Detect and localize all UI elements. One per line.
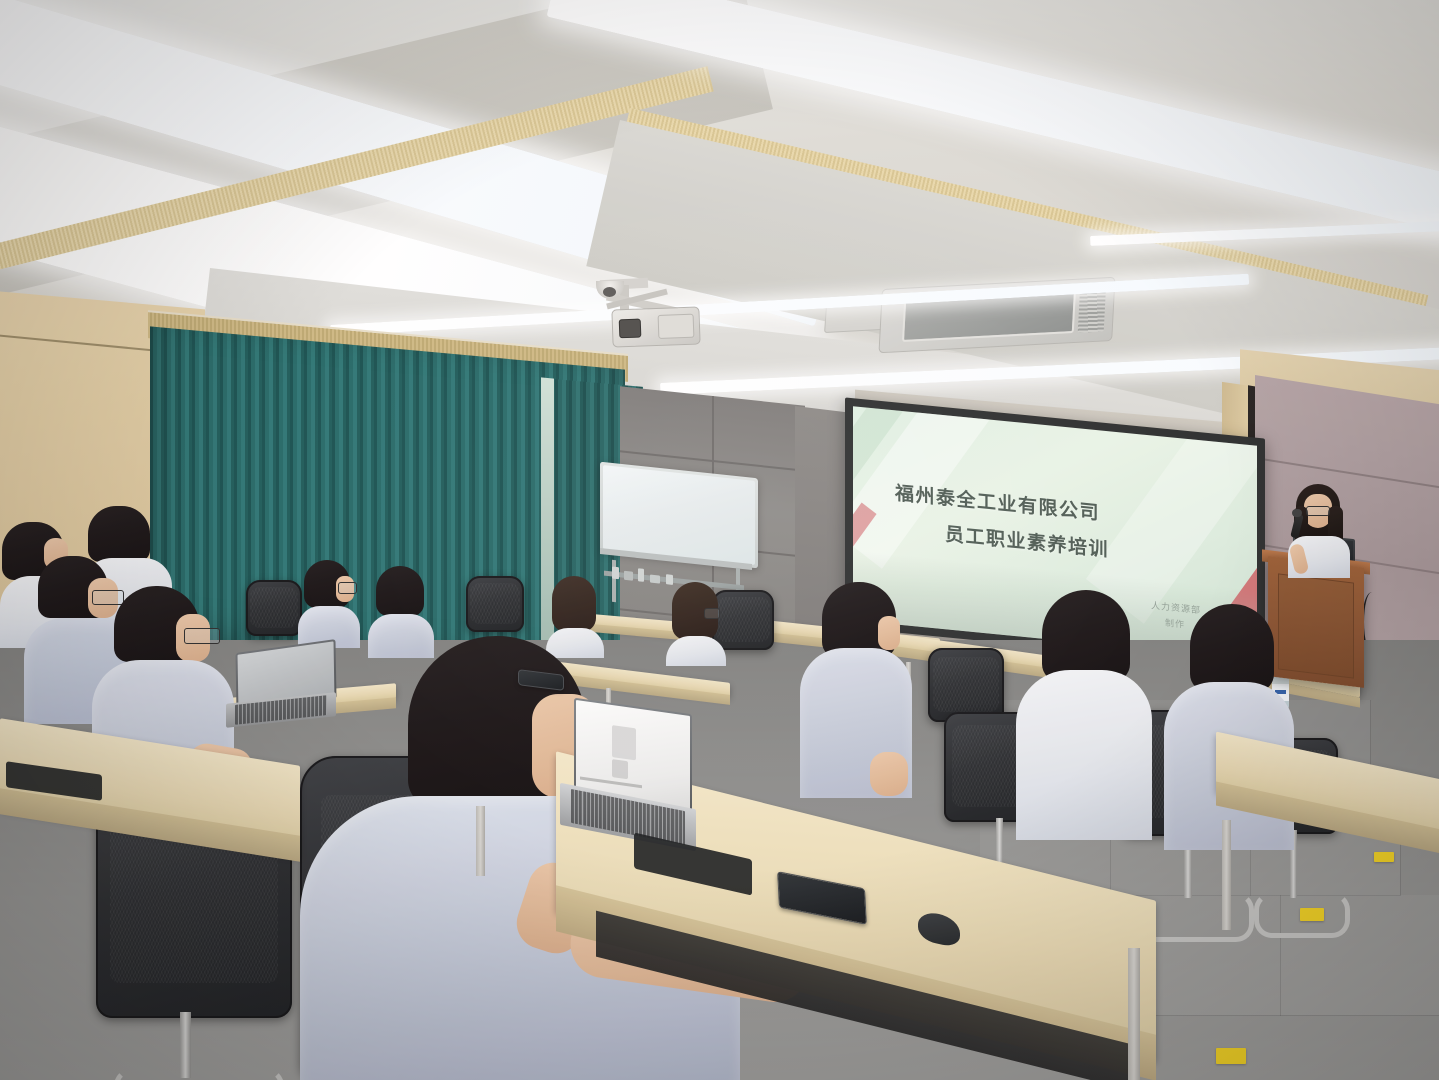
floor-marker-3 (1374, 852, 1394, 862)
attendee-person (800, 582, 912, 792)
microphone-head-icon (1292, 509, 1302, 517)
slide-title-line2: 员工职业素养培训 (945, 519, 1109, 562)
attendee-person (298, 560, 360, 638)
projector-lens-icon (619, 319, 642, 339)
desk-leg (476, 806, 485, 876)
attendee-person (1016, 590, 1152, 830)
glasses-icon (184, 628, 220, 644)
chair[interactable] (246, 580, 302, 636)
camera-lens-icon (603, 287, 616, 297)
slide-title-line1: 福州泰全工业有限公司 (895, 478, 1100, 525)
ac-louver (1078, 287, 1106, 333)
attendee-person (368, 566, 434, 646)
training-room-photo: 福州泰全工业有限公司 员工职业素养培训 人力资源部 制作 (0, 0, 1439, 1080)
desk-leg (1222, 820, 1231, 930)
floor-marker-2 (1216, 1048, 1246, 1064)
presenter-glasses-icon (1306, 506, 1330, 516)
desk-leg (1128, 948, 1140, 1080)
projector-icon (611, 306, 700, 347)
laptop[interactable] (560, 706, 694, 846)
chair[interactable] (466, 576, 524, 632)
chair[interactable] (928, 648, 1004, 722)
projector-body (658, 314, 695, 339)
